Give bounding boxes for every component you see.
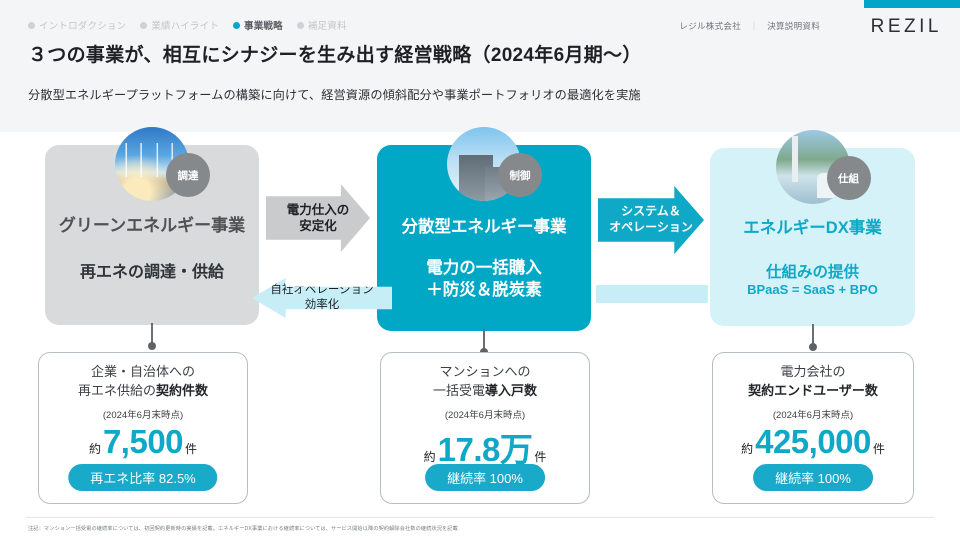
nav-item-strategy[interactable]: 事業戦略 bbox=[233, 18, 283, 32]
company-name: レジル株式会社 bbox=[679, 21, 741, 31]
stat-number: 7,500 bbox=[103, 423, 183, 461]
stat-heading-line2: 一括受電 bbox=[433, 383, 485, 398]
stat-card-contracts[interactable]: 企業・自治体への 再エネ供給の契約件数 (2024年6月末時点) 約 7,500… bbox=[38, 352, 248, 504]
role-badge: 制御 bbox=[498, 153, 542, 197]
footer-divider bbox=[26, 517, 934, 518]
card-title: グリーンエネルギー事業 bbox=[45, 211, 259, 236]
stat-card-bulk-power-units[interactable]: マンションへの 一括受電導入戸数 (2024年6月末時点) 約 17.8万 件 … bbox=[380, 352, 590, 504]
card-title: 分散型エネルギー事業 bbox=[377, 213, 591, 237]
nav-item-label: 業績ハイライト bbox=[151, 18, 219, 32]
stat-value-row: 約 425,000 件 bbox=[713, 423, 913, 461]
arrow-operation-efficiency: 自社オペレーション 効率化 bbox=[252, 278, 392, 318]
footnote-text: 注記：マンション一括受電の継続率については、初回契約更新時の実績を記載。エネルギ… bbox=[28, 525, 458, 532]
connector-stem bbox=[812, 324, 814, 348]
nav-item-label: 補足資料 bbox=[308, 18, 347, 32]
business-card-distributed-energy[interactable]: 制御 分散型エネルギー事業 電力の一括購入 ＋防災＆脱炭素 bbox=[377, 145, 591, 331]
stat-approx-label: 約 bbox=[89, 440, 101, 457]
arrow-return-bar bbox=[596, 285, 708, 303]
card-subtitle: 仕組みの提供 bbox=[710, 260, 915, 282]
slide-canvas: イントロダクション 業績ハイライト 事業戦略 補足資料 レジル株式会社 ｜ 決算… bbox=[0, 0, 960, 540]
nav-item-label: 事業戦略 bbox=[244, 18, 283, 32]
bullet-dot-icon bbox=[297, 22, 304, 29]
business-card-energy-dx[interactable]: 仕組 エネルギーDX事業 仕組みの提供 BPaaS = SaaS + BPO bbox=[710, 148, 915, 326]
stat-heading: マンションへの 一括受電導入戸数 bbox=[381, 363, 589, 401]
bullet-dot-icon bbox=[233, 22, 240, 29]
card-formula: BPaaS = SaaS + BPO bbox=[710, 282, 915, 297]
stat-badge: 継続率 100% bbox=[425, 464, 545, 491]
stat-badge: 継続率 100% bbox=[753, 464, 873, 491]
stat-asof-date: (2024年6月末時点) bbox=[713, 407, 913, 421]
stat-heading-line2: 再エネ供給の bbox=[78, 383, 156, 398]
stat-approx-label: 約 bbox=[741, 440, 753, 457]
stat-badge: 再エネ比率 82.5% bbox=[68, 464, 217, 491]
stat-heading: 電力会社の 契約エンドユーザー数 bbox=[713, 363, 913, 401]
stat-unit: 件 bbox=[185, 440, 197, 457]
meta-separator: ｜ bbox=[750, 21, 759, 31]
card-subtitle: 電力の一括購入 ＋防災＆脱炭素 bbox=[377, 257, 591, 302]
nav-item-highlights[interactable]: 業績ハイライト bbox=[140, 18, 219, 32]
stat-number: 425,000 bbox=[755, 423, 871, 461]
nav-item-label: イントロダクション bbox=[39, 18, 126, 32]
brand-logo: REZIL bbox=[871, 16, 942, 38]
arrow-system-and-operation: システム＆ オペレーション bbox=[598, 186, 704, 254]
stat-asof-date: (2024年6月末時点) bbox=[381, 407, 589, 421]
arrow-power-supply-stability: 電力仕入の 安定化 bbox=[266, 184, 370, 252]
bullet-dot-icon bbox=[140, 22, 147, 29]
role-badge: 調達 bbox=[166, 153, 210, 197]
stat-heading-line1: 企業・自治体への bbox=[91, 364, 195, 379]
card-subtitle: 再エネの調達・供給 bbox=[45, 258, 259, 282]
stat-card-end-users[interactable]: 電力会社の 契約エンドユーザー数 (2024年6月末時点) 約 425,000 … bbox=[712, 352, 914, 504]
connector-stem bbox=[151, 323, 153, 347]
stat-heading-line1: マンションへの bbox=[439, 364, 530, 379]
business-card-green-energy[interactable]: 調達 グリーンエネルギー事業 再エネの調達・供給 bbox=[45, 145, 259, 325]
stat-unit: 件 bbox=[873, 440, 885, 457]
section-nav[interactable]: イントロダクション 業績ハイライト 事業戦略 補足資料 bbox=[28, 18, 347, 32]
document-type: 決算説明資料 bbox=[767, 21, 820, 31]
page-title: ３つの事業が、相互にシナジーを生み出す経営戦略（2024年6月期〜） bbox=[28, 40, 642, 67]
page-subtitle: 分散型エネルギープラットフォームの構築に向けて、経営資源の傾斜配分や事業ポートフ… bbox=[28, 85, 641, 103]
stat-heading-line1: 電力会社の bbox=[780, 364, 845, 379]
stat-unit: 件 bbox=[534, 448, 546, 465]
connector-stem bbox=[483, 329, 485, 353]
brand-accent-tab bbox=[864, 0, 960, 8]
card-title: エネルギーDX事業 bbox=[710, 214, 915, 238]
nav-item-appendix[interactable]: 補足資料 bbox=[297, 18, 347, 32]
stat-approx-label: 約 bbox=[424, 448, 436, 465]
role-badge: 仕組 bbox=[827, 156, 871, 200]
stat-heading-emphasis: 契約エンドユーザー数 bbox=[748, 383, 878, 398]
stat-heading-emphasis: 導入戸数 bbox=[485, 383, 537, 398]
header-meta: レジル株式会社 ｜ 決算説明資料 bbox=[679, 20, 820, 32]
bullet-dot-icon bbox=[28, 22, 35, 29]
stat-heading: 企業・自治体への 再エネ供給の契約件数 bbox=[39, 363, 247, 401]
stat-asof-date: (2024年6月末時点) bbox=[39, 407, 247, 421]
nav-item-intro[interactable]: イントロダクション bbox=[28, 18, 126, 32]
stat-value-row: 約 7,500 件 bbox=[39, 423, 247, 461]
stat-heading-emphasis: 契約件数 bbox=[156, 383, 208, 398]
